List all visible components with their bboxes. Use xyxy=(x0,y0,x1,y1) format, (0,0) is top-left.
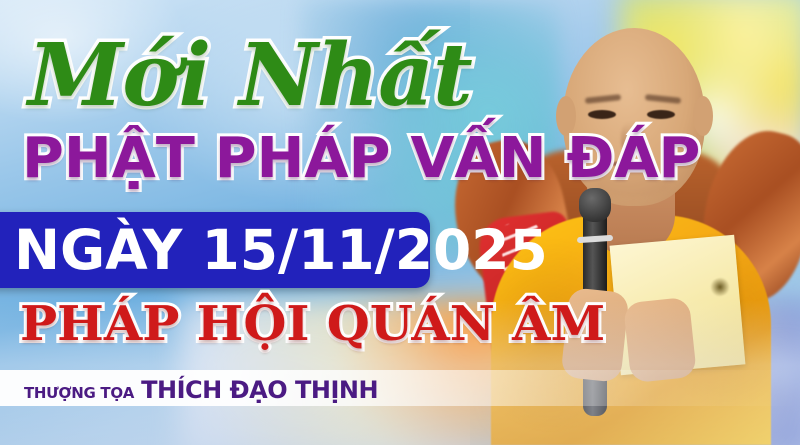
microphone-head-icon xyxy=(579,188,611,222)
speaker-name: THÍCH ĐẠO THỊNH xyxy=(141,376,378,404)
date-banner-text: NGÀY 15/11/2025 xyxy=(14,218,424,282)
thumbnail-poster: Mới Nhất PHẬT PHÁP VẤN ĐÁP NGÀY 15/11/20… xyxy=(0,0,800,445)
speaker-title: THƯỢNG TỌA xyxy=(24,384,134,402)
speaker-line: THƯỢNG TỌA THÍCH ĐẠO THỊNH xyxy=(24,376,378,400)
subtitle-phat-phap-van-dap: PHẬT PHÁP VẤN ĐÁP xyxy=(22,128,532,190)
eye-left xyxy=(588,110,616,119)
event-title-phap-hoi-quan-am: PHÁP HỘI QUÁN ÂM xyxy=(20,296,535,352)
headline-moi-nhat: Mới Nhất xyxy=(28,30,448,122)
eye-right xyxy=(647,110,675,119)
